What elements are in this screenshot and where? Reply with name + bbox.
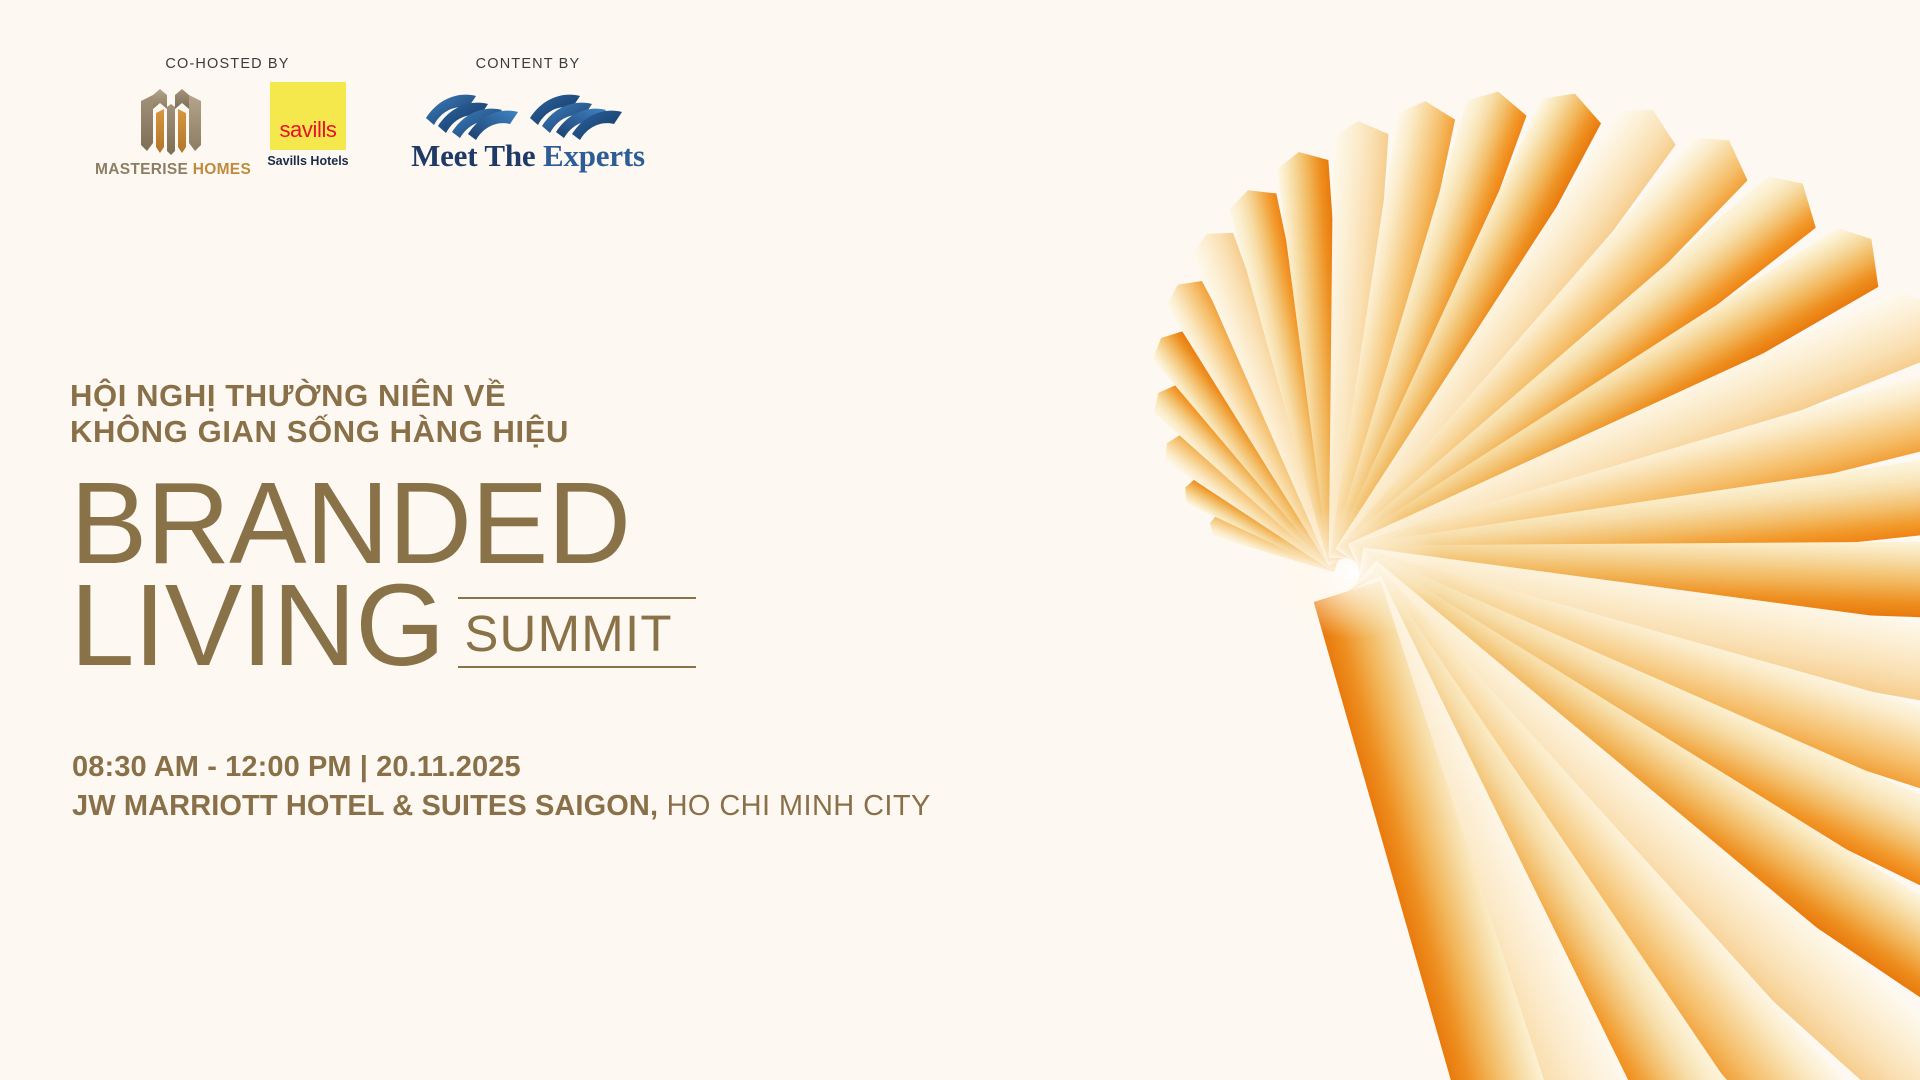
- masterise-word-part1: MASTERISE: [95, 161, 188, 178]
- title-line-living-summit: LIVING SUMMIT: [70, 574, 830, 676]
- savills-yellow-box-icon: savills: [270, 82, 346, 150]
- summit-lockup: SUMMIT: [458, 597, 696, 676]
- headline-block: HỘI NGHỊ THƯỜNG NIÊN VỀ KHÔNG GIAN SỐNG …: [70, 378, 890, 676]
- meet-the-experts-waves-icon: [424, 88, 632, 140]
- savills-hotels-logo[interactable]: savills Savills Hotels: [256, 82, 360, 182]
- content-by-caption: CONTENT BY: [400, 56, 656, 72]
- title-line-living: LIVING: [70, 574, 444, 676]
- event-time-and-date: 08:30 AM - 12:00 PM | 20.11.2025: [72, 748, 1072, 787]
- radial-fan-palm-graphic: [1020, 0, 1920, 1080]
- event-venue: JW MARRIOTT HOTEL & SUITES SAIGON, HO CH…: [72, 787, 1072, 826]
- title-line-branded: BRANDED: [70, 472, 830, 574]
- masterise-m-monogram-icon: [133, 85, 209, 157]
- mte-word-part2: Experts: [543, 138, 645, 173]
- title-suffix-summit: SUMMIT: [458, 599, 696, 666]
- cohosted-by-caption: CO-HOSTED BY: [95, 56, 360, 72]
- venue-name: JW MARRIOTT HOTEL & SUITES SAIGON,: [72, 790, 658, 822]
- poster-canvas: CO-HOSTED BY: [0, 0, 1920, 1080]
- kicker-line-1: HỘI NGHỊ THƯỜNG NIÊN VỀ: [70, 378, 890, 414]
- savills-hotels-subtitle: Savills Hotels: [256, 154, 360, 168]
- meet-the-experts-wordmark: Meet The Experts: [400, 138, 656, 174]
- mte-word-part1: Meet The: [411, 138, 543, 173]
- masterise-word-part2: HOMES: [188, 161, 251, 178]
- masterise-homes-logo[interactable]: MASTERISE HOMES: [95, 85, 250, 181]
- content-by-group: CONTENT BY: [400, 56, 656, 184]
- event-title: BRANDED LIVING SUMMIT: [70, 472, 830, 676]
- partner-logos-strip: CO-HOSTED BY: [0, 56, 800, 186]
- event-details: 08:30 AM - 12:00 PM | 20.11.2025 JW MARR…: [72, 748, 1072, 826]
- cohosted-by-group: CO-HOSTED BY: [95, 56, 360, 181]
- kicker-line-2: KHÔNG GIAN SỐNG HÀNG HIỆU: [70, 414, 890, 450]
- meet-the-experts-logo[interactable]: Meet The Experts: [400, 88, 656, 184]
- venue-city: HO CHI MINH CITY: [658, 790, 931, 822]
- summit-rule-bottom: [458, 666, 696, 668]
- masterise-homes-wordmark: MASTERISE HOMES: [95, 161, 250, 179]
- savills-wordmark: savills: [279, 119, 336, 150]
